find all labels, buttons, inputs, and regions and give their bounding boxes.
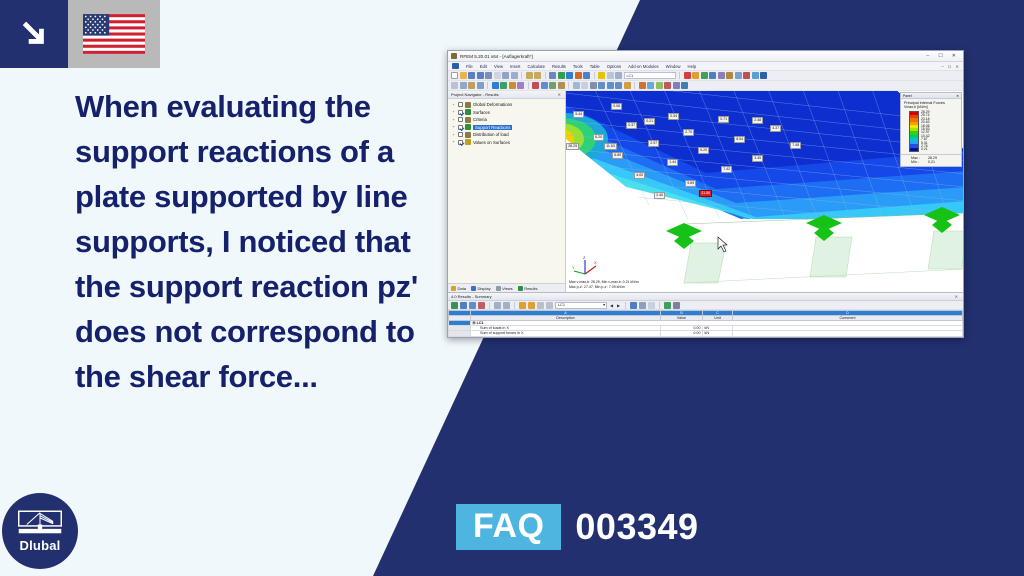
faq-badge: FAQ: [456, 504, 561, 550]
table-print-icon[interactable]: [460, 302, 467, 309]
legend-tick-labels: 28.29 25.74 23.18 20.63 18.08 15.53 12.9…: [921, 111, 930, 152]
tree-item-label: Values on Surfaces: [473, 140, 510, 145]
navigator-tabs[interactable]: Data Display Views Results: [448, 283, 565, 292]
checkbox[interactable]: [458, 140, 463, 145]
viewport-minmax-footer: Max v-max,b: 28.29, Min v-max,b: 0.21 kN…: [569, 280, 639, 290]
mdi-restore-icon[interactable]: ☐: [948, 64, 952, 69]
table-link-icon[interactable]: [630, 302, 637, 309]
chevron-down-icon[interactable]: ▾: [603, 302, 605, 309]
menu-item-edit[interactable]: Edit: [480, 64, 487, 69]
grid-icon[interactable]: [581, 82, 588, 89]
cut-icon[interactable]: [526, 72, 533, 79]
viewport-footer-line-2: Max p-z': 27.47, Min p-z': 7.09 kN/m: [569, 285, 639, 290]
result-value-tag: 2.48: [752, 117, 763, 124]
results-legend-panel: Panel ✕ Principal Internal Forces Vmax,b…: [900, 92, 962, 167]
nodal-support-icon[interactable]: [532, 82, 539, 89]
navigator-tab-data[interactable]: Data: [451, 286, 466, 291]
menu-item-table[interactable]: Table: [590, 64, 600, 69]
open-folder-icon[interactable]: [460, 72, 467, 79]
tree-item-label: Global Deformations: [473, 102, 512, 107]
row-header[interactable]: [449, 336, 471, 338]
app-icon: [451, 53, 457, 59]
table-row[interactable]: Sum of loads in Y 0.00 kN: [449, 336, 963, 338]
table-filter-icon[interactable]: [478, 302, 485, 309]
node-icon[interactable]: [492, 82, 499, 89]
navigator-title: Project Navigator - Results: [451, 92, 558, 97]
table-excel-icon[interactable]: [664, 302, 671, 309]
result-value-tag: 7.42: [721, 166, 732, 173]
clipping-icon[interactable]: [718, 72, 725, 79]
legend-minmax: Max : 28.29 Min : 0.21: [901, 154, 961, 166]
tree-item-surfaces[interactable]: + Surfaces: [451, 109, 565, 117]
printout-report-icon[interactable]: [502, 72, 509, 79]
table-grid-icon[interactable]: [537, 302, 544, 309]
legend-panel-title: Panel: [903, 94, 912, 98]
toolbar-separator: [521, 72, 522, 79]
result-value-tag: 0.08: [611, 103, 622, 110]
tree-item-distribution-of-load[interactable]: + Distribution of load: [451, 131, 565, 139]
deform-icon[interactable]: [726, 72, 733, 79]
cell-description: Sum of loads in Y: [471, 336, 661, 338]
values-on-surfaces-icon: [465, 139, 471, 145]
deformation-icon: [465, 102, 471, 108]
faq-footer: FAQ 003349: [456, 504, 699, 550]
table-load-case-value: LC1: [558, 302, 565, 309]
surface-icon[interactable]: [517, 82, 524, 89]
toolbar-separator: [528, 82, 529, 89]
axis-tripod-icon: Z X Y: [572, 256, 598, 276]
menu-bar[interactable]: File Edit View Insert Calculate Results …: [448, 62, 963, 71]
window-body: Project Navigator - Results ✕ + Global D…: [448, 91, 963, 292]
expand-icon[interactable]: +: [451, 103, 456, 107]
legend-min-row: Min : 0.21: [911, 160, 958, 164]
toolbar-separator: [514, 302, 515, 309]
rotate-view-icon[interactable]: [477, 82, 484, 89]
mdi-minimize-icon[interactable]: –: [941, 64, 943, 69]
table-export-icon[interactable]: [451, 302, 458, 309]
group-expand-icon[interactable]: ⊟: [473, 321, 476, 325]
navigator-tab-results[interactable]: Results: [518, 286, 538, 291]
save-all-icon[interactable]: [477, 72, 484, 79]
result-value-tag: 8.04: [734, 136, 745, 143]
results-table: A B C D Description Value Unit Comment ⊟: [448, 310, 963, 338]
criteria-icon: [465, 117, 471, 123]
table-next-record-icon[interactable]: ▶: [616, 303, 621, 308]
tree-item-label: Surfaces: [473, 110, 490, 115]
result-value-tag: 0.34: [668, 113, 679, 120]
navigator-tab-display[interactable]: Display: [471, 286, 491, 291]
delete-icon[interactable]: [743, 72, 750, 79]
toolbar-separator: [679, 72, 680, 79]
navigator-tab-label: Display: [477, 286, 490, 291]
result-value-tag: 9.69: [685, 180, 696, 187]
result-value-tag: 3.45: [752, 155, 763, 162]
legend-color-scale: 28.29 25.74 23.18 20.63 18.08 15.53 12.9…: [901, 111, 961, 154]
toolbar-secondary[interactable]: [448, 81, 963, 91]
window-controls[interactable]: – ☐ ✕: [927, 53, 960, 59]
line-icon[interactable]: [500, 82, 507, 89]
result-value-tag: 7.48: [790, 142, 801, 149]
legend-tick: 0.21: [921, 148, 930, 151]
close-icon[interactable]: ✕: [952, 53, 956, 59]
results-tab-icon: [518, 286, 523, 291]
3d-viewport[interactable]: 0.08 5.44 0.34 0.21 2.48 0.71 0.37 2.70 …: [566, 91, 963, 292]
logo-wordmark: Dlubal: [20, 538, 61, 553]
window-titlebar: RFEM 5.20.01 x64 - [Auflagerkraft*] – ☐ …: [448, 51, 963, 62]
result-value-tag-max: 28.29: [566, 143, 579, 150]
rfem-application-window: RFEM 5.20.01 x64 - [Auflagerkraft*] – ☐ …: [447, 50, 964, 338]
checkbox[interactable]: [458, 110, 463, 115]
load-case-combo[interactable]: LC1: [624, 72, 676, 79]
result-value-tag: 4.37: [770, 125, 781, 132]
max-values-icon[interactable]: [664, 82, 671, 89]
svg-text:X: X: [594, 260, 597, 265]
smooth-icon[interactable]: [701, 72, 708, 79]
toolbar-separator: [625, 302, 626, 309]
toolbar-separator: [634, 82, 635, 89]
menu-item-options[interactable]: Options: [607, 64, 621, 69]
tree-item-label: Criteria: [473, 117, 487, 122]
navigator-header: Project Navigator - Results ✕: [448, 91, 565, 99]
table-first-record-icon[interactable]: ◀: [609, 303, 614, 308]
svg-text:Y: Y: [572, 265, 575, 270]
legend-color-bar: [909, 111, 919, 152]
measure-icon[interactable]: [460, 82, 467, 89]
checkbox[interactable]: [458, 132, 463, 137]
load-distribution-icon: [465, 132, 471, 138]
flag-box: [68, 0, 160, 68]
print-icon[interactable]: [485, 72, 492, 79]
print-preview-icon[interactable]: [494, 72, 501, 79]
result-value-tag: 4.00: [634, 172, 645, 179]
contour-icon[interactable]: [639, 82, 646, 89]
faq-number: 003349: [575, 506, 698, 548]
minimize-icon[interactable]: –: [927, 53, 930, 59]
view-front-icon[interactable]: [598, 82, 605, 89]
select-objects-icon[interactable]: [451, 82, 458, 89]
toolbar-primary[interactable]: LC1: [448, 71, 963, 81]
display-tab-icon: [471, 286, 476, 291]
toolbar-separator: [545, 72, 546, 79]
table-panel-title: 4.0 Results - Summary: [451, 294, 955, 299]
checkbox[interactable]: [458, 102, 463, 107]
results-table-panel: 4.0 Results - Summary ✕ LC1 ▾ ◀ ▶: [448, 292, 963, 338]
table-panel-header: 4.0 Results - Summary ✕: [448, 293, 963, 301]
undo-icon[interactable]: [549, 72, 556, 79]
expand-icon[interactable]: +: [451, 125, 456, 129]
surfaces-icon: [465, 109, 471, 115]
menu-item-file[interactable]: File: [466, 64, 473, 69]
result-value-tag: 5.44: [573, 111, 584, 118]
toolbar-separator: [487, 82, 488, 89]
zoom-window-icon[interactable]: [607, 72, 614, 79]
table-view-icon[interactable]: [546, 302, 553, 309]
tree-item-support-reactions[interactable]: + Support Reactions: [451, 124, 565, 132]
result-value-tag: 6.20: [698, 147, 709, 154]
maximize-icon[interactable]: ☐: [938, 53, 942, 59]
expand-icon[interactable]: +: [451, 110, 456, 114]
svg-text:Z: Z: [583, 256, 586, 260]
page-title: When evaluating the support reactions of…: [75, 84, 425, 399]
export-icon[interactable]: [511, 72, 518, 79]
new-document-icon[interactable]: [451, 72, 458, 79]
max-min-icon[interactable]: [684, 72, 691, 79]
table-toolbar[interactable]: LC1 ▾ ◀ ▶: [448, 301, 963, 310]
table-help-icon[interactable]: [673, 302, 680, 309]
mdi-close-icon[interactable]: ✕: [955, 64, 959, 69]
navigator-close-icon[interactable]: ✕: [558, 92, 562, 97]
navigator-tab-label: Data: [458, 286, 466, 291]
support-reactions-icon: [465, 124, 471, 130]
legend-swatch: [910, 148, 918, 151]
result-value-tag: 11.63: [604, 143, 617, 150]
view-iso-icon[interactable]: [624, 82, 631, 89]
navigator-tab-label: Results: [524, 286, 537, 291]
group-label-text: LC1: [477, 321, 484, 325]
result-value-tag: 2.70: [683, 129, 694, 136]
toolbar-separator: [594, 72, 595, 79]
calculate-icon[interactable]: [558, 72, 565, 79]
toolbar-separator: [489, 302, 490, 309]
legend-close-icon[interactable]: ✕: [956, 94, 959, 98]
navigator-tree: + Global Deformations + Surfaces + Crite…: [448, 99, 565, 283]
member-icon[interactable]: [509, 82, 516, 89]
save-icon[interactable]: [468, 72, 475, 79]
usa-flag-icon: [83, 14, 145, 54]
top-left-bar: [0, 0, 160, 68]
window-title: RFEM 5.20.01 x64 - [Auflagerkraft*]: [460, 54, 927, 59]
result-value-tag: 0.37: [626, 122, 637, 129]
tree-item-criteria[interactable]: + Criteria: [451, 116, 565, 124]
toolbar-separator: [568, 82, 569, 89]
navigator-tab-label: Views: [502, 286, 513, 291]
result-value-tag: 2.97: [648, 140, 659, 147]
menu-item-view[interactable]: View: [494, 64, 503, 69]
cell-comment: [733, 336, 963, 338]
expand-icon[interactable]: +: [451, 118, 456, 122]
table-next-page-icon[interactable]: [503, 302, 510, 309]
checkbox[interactable]: [458, 117, 463, 122]
tree-item-global-deformations[interactable]: + Global Deformations: [451, 101, 565, 109]
tree-item-label: Distribution of load: [473, 132, 509, 137]
menu-item-insert[interactable]: Insert: [510, 64, 520, 69]
load-icon[interactable]: [558, 82, 565, 89]
arrow-box: [0, 0, 68, 68]
results-grid[interactable]: A B C D Description Value Unit Comment ⊟: [448, 310, 963, 338]
dlubal-logo: Dlubal: [2, 493, 78, 569]
snap-icon[interactable]: [590, 82, 597, 89]
navigator-tab-views[interactable]: Views: [496, 286, 513, 291]
screenshot-icon[interactable]: [681, 82, 688, 89]
menu-item-help[interactable]: Help: [688, 64, 697, 69]
result-value-tag: 2.40: [654, 192, 665, 199]
section-icon[interactable]: [709, 72, 716, 79]
table-settings-icon[interactable]: [469, 302, 476, 309]
menu-item-addon-modules[interactable]: Add-on Modules: [628, 64, 659, 69]
copy-icon[interactable]: [534, 72, 541, 79]
legend-min-label: Min :: [911, 160, 923, 164]
arrow-down-right-icon: [17, 17, 51, 51]
dimension-icon[interactable]: [468, 82, 475, 89]
menu-item-calculate[interactable]: Calculate: [527, 64, 544, 69]
display-properties-icon[interactable]: [583, 72, 590, 79]
project-navigator: Project Navigator - Results ✕ + Global D…: [448, 91, 566, 292]
table-clear-icon[interactable]: [648, 302, 655, 309]
table-refresh-icon[interactable]: [639, 302, 646, 309]
views-tab-icon: [496, 286, 501, 291]
tree-item-label: Support Reactions: [473, 125, 512, 130]
table-load-case-select[interactable]: LC1 ▾: [555, 302, 607, 309]
pan-icon[interactable]: [615, 72, 622, 79]
values-icon[interactable]: [735, 72, 742, 79]
animation-icon[interactable]: [673, 82, 680, 89]
result-value-tag: 0.21: [644, 118, 655, 125]
menu-item-window[interactable]: Window: [666, 64, 681, 69]
table-redo-icon[interactable]: [528, 302, 535, 309]
line-support-icon[interactable]: [541, 82, 548, 89]
mesh-icon[interactable]: [573, 82, 580, 89]
toolbar-separator: [659, 302, 660, 309]
results-icon[interactable]: [566, 72, 573, 79]
expand-icon[interactable]: +: [451, 133, 456, 137]
view-top-icon[interactable]: [607, 82, 614, 89]
info-icon[interactable]: [752, 72, 759, 79]
checkbox[interactable]: [458, 125, 463, 130]
menu-app-icon[interactable]: [452, 63, 459, 69]
cell-unit: kN: [703, 336, 733, 338]
render-icon[interactable]: [575, 72, 582, 79]
view-side-icon[interactable]: [615, 82, 622, 89]
dlubal-bridge-icon: [18, 510, 62, 536]
menu-item-tools[interactable]: Tools: [573, 64, 583, 69]
result-values-icon[interactable]: [656, 82, 663, 89]
help-icon[interactable]: [760, 72, 767, 79]
isolines-icon[interactable]: [692, 72, 699, 79]
legend-min-value: 0.21: [928, 160, 935, 164]
table-prev-page-icon[interactable]: [494, 302, 501, 309]
menu-item-results[interactable]: Results: [552, 64, 566, 69]
result-value-tag: 1.44: [667, 159, 678, 166]
table-panel-close-icon[interactable]: ✕: [955, 294, 960, 299]
result-value-tag: 0.71: [718, 116, 729, 123]
expand-icon[interactable]: +: [451, 140, 456, 144]
tree-item-values-on-surfaces[interactable]: + Values on Surfaces: [451, 139, 565, 147]
result-value-tag: 6.89: [612, 152, 623, 159]
surface-support-icon[interactable]: [549, 82, 556, 89]
select-window-icon[interactable]: [598, 72, 605, 79]
result-value-tag-selected: 21.50: [699, 190, 712, 197]
cell-value: 0.00: [661, 336, 703, 338]
table-undo-icon[interactable]: [519, 302, 526, 309]
panel-icon[interactable]: [647, 82, 654, 89]
data-tab-icon: [451, 286, 456, 291]
result-value-tag: 6.20: [593, 134, 604, 141]
mdi-window-controls[interactable]: – ☐ ✕: [941, 64, 959, 69]
